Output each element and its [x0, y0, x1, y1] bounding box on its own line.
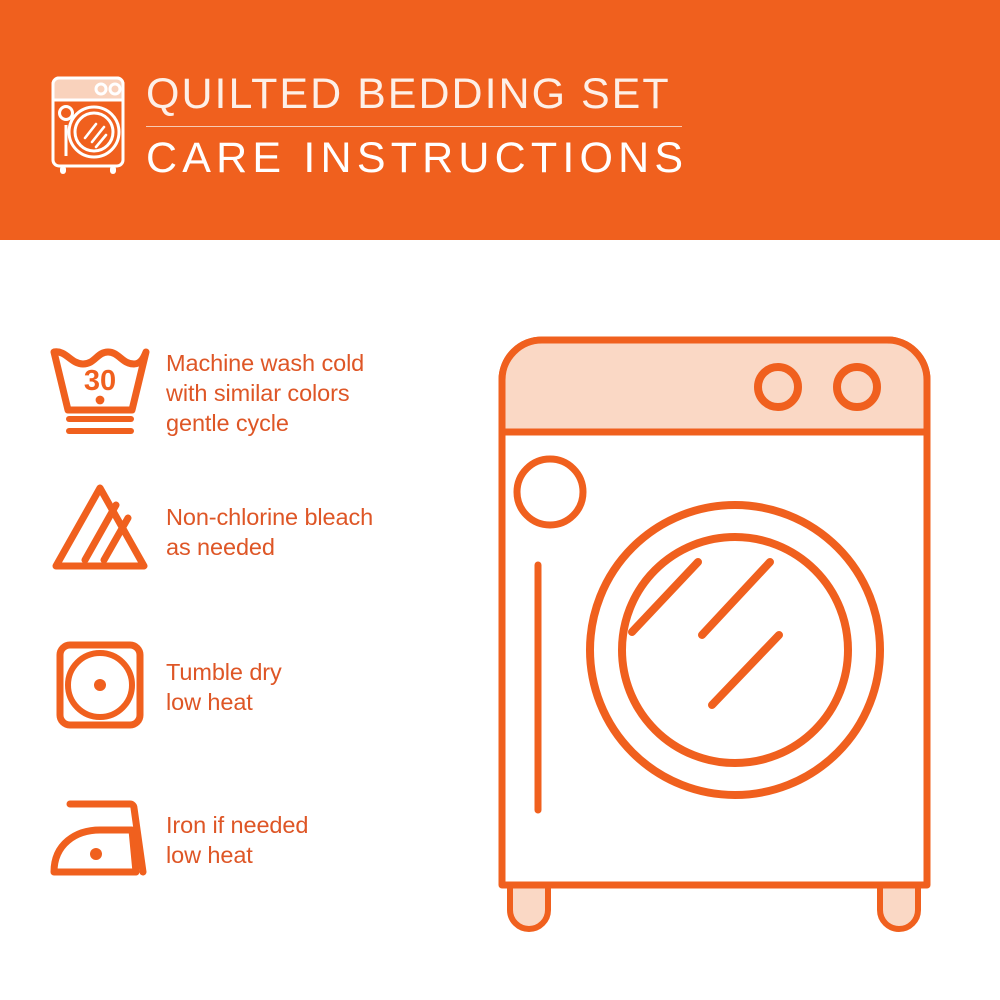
title-divider [146, 126, 682, 127]
care-item-line: low heat [166, 840, 308, 870]
care-item-line: as needed [166, 532, 373, 562]
care-item-line: gentle cycle [166, 408, 364, 438]
washing-machine-icon [46, 72, 138, 176]
machine-control-panel [502, 340, 927, 432]
tumble-dry-low-icon [46, 635, 166, 733]
page-subtitle: CARE INSTRUCTIONS [146, 133, 706, 183]
header-banner: QUILTED BEDDING SET CARE INSTRUCTIONS [0, 0, 1000, 240]
washing-machine-illustration [480, 320, 980, 940]
wash-temperature-value: 30 [84, 365, 116, 397]
care-item-line: Iron if needed [166, 810, 308, 840]
care-item-text: Iron if needed low heat [166, 788, 308, 870]
wash-tub-30-icon: 30 [46, 340, 166, 438]
care-item-line: with similar colors [166, 378, 364, 408]
care-instructions-poster: QUILTED BEDDING SET CARE INSTRUCTIONS 30 [0, 0, 1000, 1000]
list-item: 30 Machine wash cold with similar colors… [46, 340, 466, 438]
list-item: Tumble dry low heat [46, 635, 466, 733]
care-item-text: Tumble dry low heat [166, 635, 282, 717]
care-item-text: Machine wash cold with similar colors ge… [166, 340, 364, 438]
iron-low-heat-icon [46, 788, 166, 886]
list-item: Iron if needed low heat [46, 788, 466, 886]
care-item-text: Non-chlorine bleach as needed [166, 480, 373, 562]
care-instruction-list: 30 Machine wash cold with similar colors… [0, 240, 480, 1000]
care-item-line: Tumble dry [166, 657, 282, 687]
list-item: Non-chlorine bleach as needed [46, 480, 466, 578]
care-item-line: Non-chlorine bleach [166, 502, 373, 532]
header-title-block: QUILTED BEDDING SET CARE INSTRUCTIONS [146, 70, 706, 183]
care-item-line: Machine wash cold [166, 348, 364, 378]
page-title: QUILTED BEDDING SET [146, 70, 706, 118]
non-chlorine-bleach-triangle-icon [46, 480, 166, 578]
care-item-line: low heat [166, 687, 282, 717]
